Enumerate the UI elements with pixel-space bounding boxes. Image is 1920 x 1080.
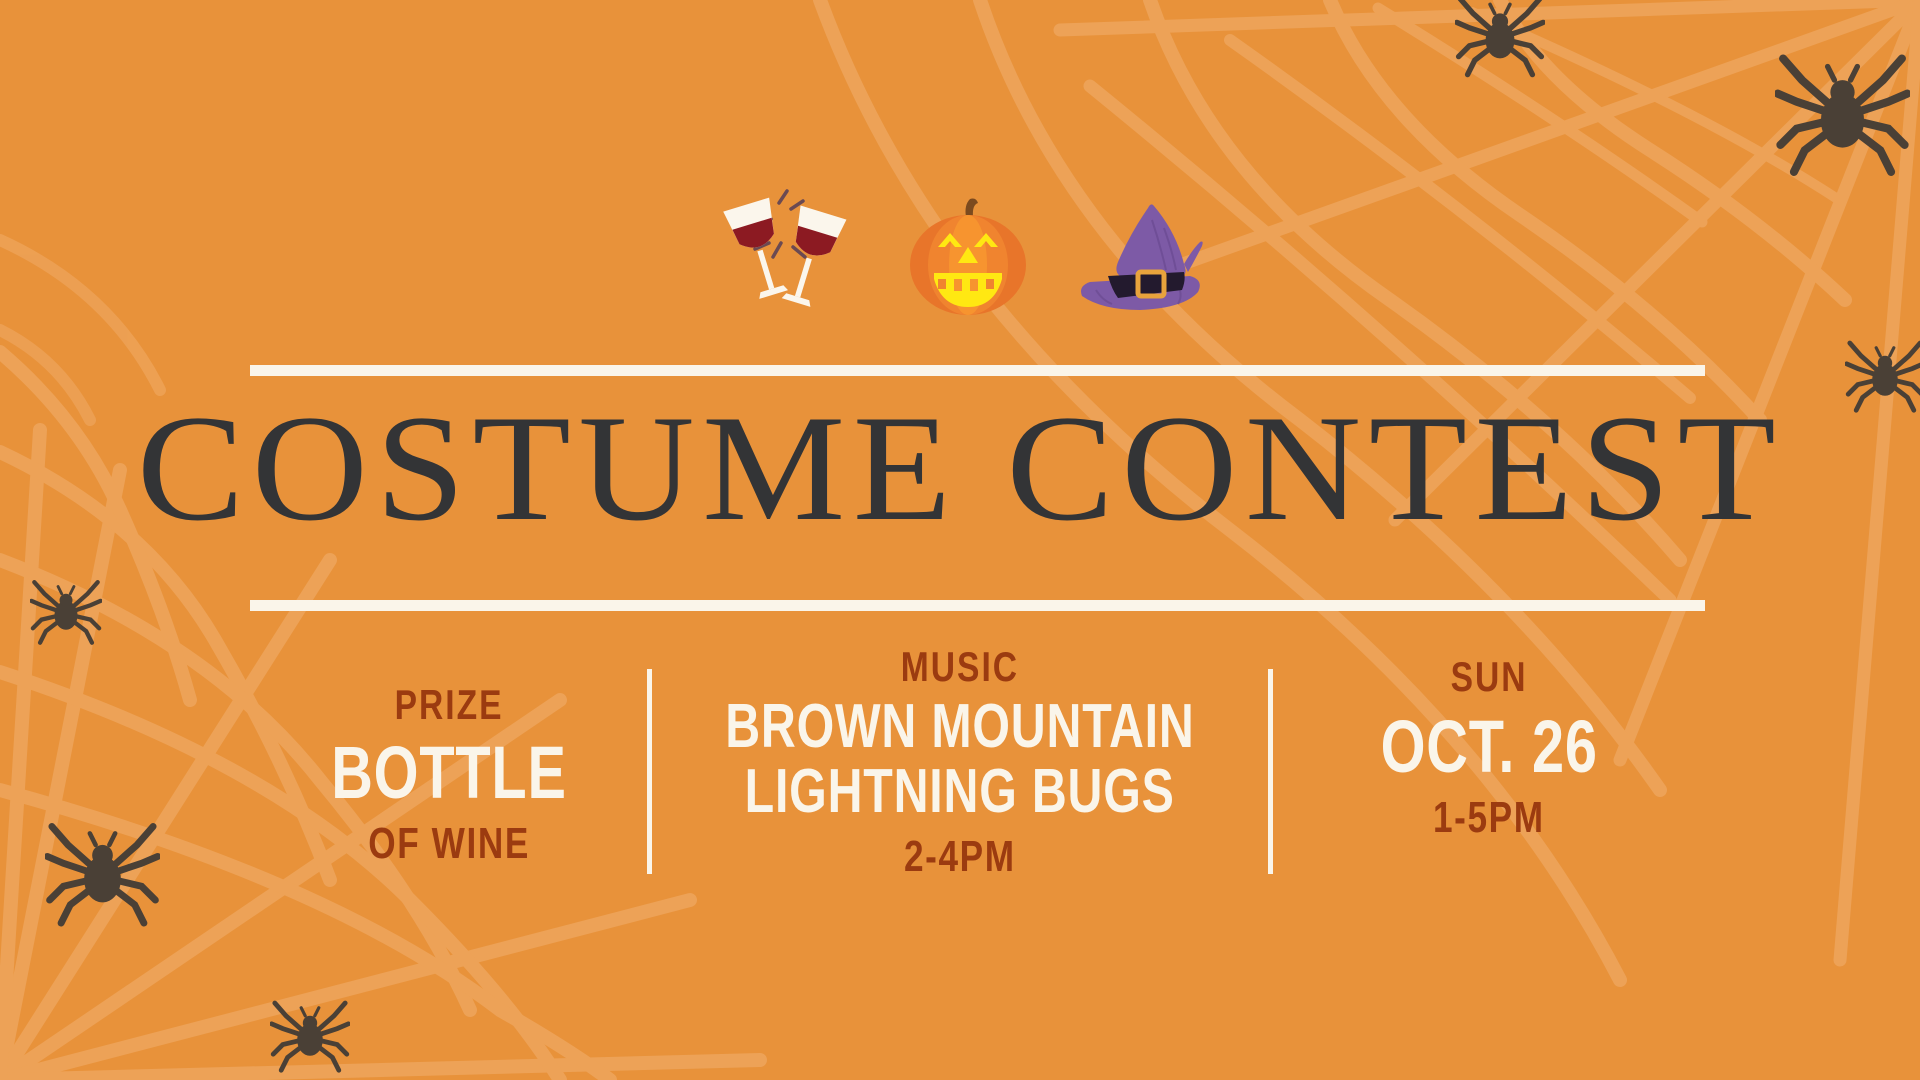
witch-hat-icon [1072,198,1212,320]
divider-rule-bottom [250,600,1705,611]
spider-icon-bottom [272,1003,349,1070]
music-headline-line2: LIGHTNING BUGS [745,760,1175,823]
prize-subline: OF WINE [368,821,530,867]
prize-headline: BOTTLE [331,735,567,810]
divider-rule-top [250,365,1705,376]
music-eyebrow: MUSIC [901,645,1019,689]
prize-eyebrow: PRIZE [394,683,503,727]
detail-column-music: MUSIC BROWN MOUNTAIN LIGHTNING BUGS 2-4P… [652,645,1268,880]
music-subline: 2-4PM [904,834,1016,880]
detail-column-prize: PRIZE BOTTLE OF WINE [250,645,647,867]
icon-row [0,185,1920,320]
date-eyebrow: SUN [1451,655,1528,699]
date-headline: OCT. 26 [1380,709,1597,784]
music-headline-line1: BROWN MOUNTAIN [725,695,1194,758]
halloween-costume-contest-poster: COSTUME CONTEST PRIZE BOTTLE OF WINE MUS… [0,0,1920,1080]
detail-column-date: SUN OCT. 26 1-5PM [1273,645,1705,841]
jack-o-lantern-icon [898,195,1038,320]
clinking-wine-glasses-icon [709,185,864,320]
spider-icon-left-upper [31,582,100,642]
page-title: COSTUME CONTEST [0,392,1920,544]
date-subline: 1-5PM [1433,795,1545,841]
event-details: PRIZE BOTTLE OF WINE MUSIC BROWN MOUNTAI… [250,645,1705,905]
spider-icon-top-center [1457,0,1543,75]
spider-icon-top-right [1778,59,1908,172]
spider-icon-left-lower [47,827,157,924]
